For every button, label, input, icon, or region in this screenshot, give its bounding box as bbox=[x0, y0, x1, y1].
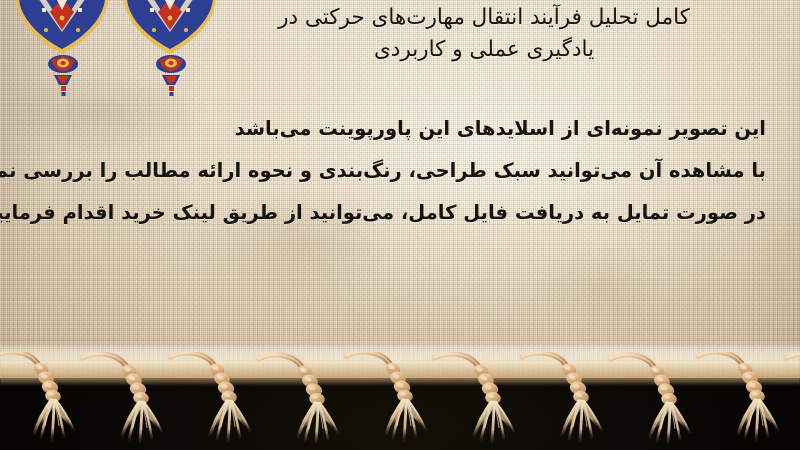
slide-body-text: این تصویر نمونه‌ای از اسلایدهای این پاور… bbox=[26, 108, 766, 234]
slide-body-line-1: این تصویر نمونه‌ای از اسلایدهای این پاور… bbox=[26, 108, 766, 150]
slide-title-line-2: یادگیری عملی و کاربردی bbox=[374, 37, 594, 62]
presentation-slide: کامل تحلیل فرآیند انتقال مهارت‌های حرکتی… bbox=[0, 0, 800, 450]
slide-body-line-2: با مشاهده آن می‌توانید سبک طراحی، رنگ‌بن… bbox=[26, 150, 766, 192]
slide-body-line-3: در صورت تمایل به دریافت فایل کامل، می‌تو… bbox=[26, 192, 766, 234]
slide-title: کامل تحلیل فرآیند انتقال مهارت‌های حرکتی… bbox=[204, 2, 764, 66]
slide-text-layer: کامل تحلیل فرآیند انتقال مهارت‌های حرکتی… bbox=[0, 0, 800, 450]
slide-title-line-1: کامل تحلیل فرآیند انتقال مهارت‌های حرکتی… bbox=[278, 5, 690, 30]
